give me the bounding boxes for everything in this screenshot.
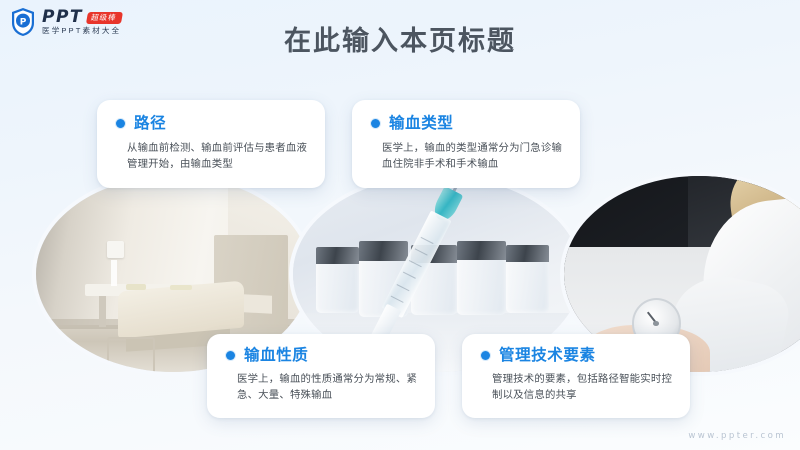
bullet-icon: [226, 351, 235, 360]
card-transfusion-type[interactable]: 输血类型 医学上，输血的类型通常分为门急诊输血住院非手术和手术输血: [352, 100, 580, 188]
card-body: 医学上，输血的类型通常分为门急诊输血住院非手术和手术输血: [352, 132, 580, 172]
card-title: 输血类型: [389, 116, 453, 132]
card-transfusion-nature[interactable]: 输血性质 医学上，输血的性质通常分为常规、紧急、大量、特殊输血: [207, 334, 435, 418]
slide-canvas: P PPT 超级棒 医学PPT素材大全 在此输入本页标题: [0, 0, 800, 450]
bullet-icon: [481, 351, 490, 360]
card-body: 医学上，输血的性质通常分为常规、紧急、大量、特殊输血: [207, 364, 435, 403]
card-header: 输血性质: [207, 334, 435, 364]
card-body: 从输血前检测、输血前评估与患者血液管理开始，由输血类型: [97, 132, 325, 172]
page-title: 在此输入本页标题: [0, 19, 800, 58]
card-title: 管理技术要素: [499, 348, 596, 364]
bullet-icon: [116, 119, 125, 128]
card-title: 输血性质: [244, 348, 308, 364]
card-header: 管理技术要素: [462, 334, 690, 364]
card-header: 输血类型: [352, 100, 580, 132]
card-body: 管理技术的要素，包括路径智能实时控制以及信息的共享: [462, 364, 690, 403]
card-title: 路径: [134, 116, 166, 132]
card-header: 路径: [97, 100, 325, 132]
bullet-icon: [371, 119, 380, 128]
card-path[interactable]: 路径 从输血前检测、输血前评估与患者血液管理开始，由输血类型: [97, 100, 325, 188]
card-management-elements[interactable]: 管理技术要素 管理技术的要素，包括路径智能实时控制以及信息的共享: [462, 334, 690, 418]
footer-website: www.ppter.com: [688, 431, 786, 441]
